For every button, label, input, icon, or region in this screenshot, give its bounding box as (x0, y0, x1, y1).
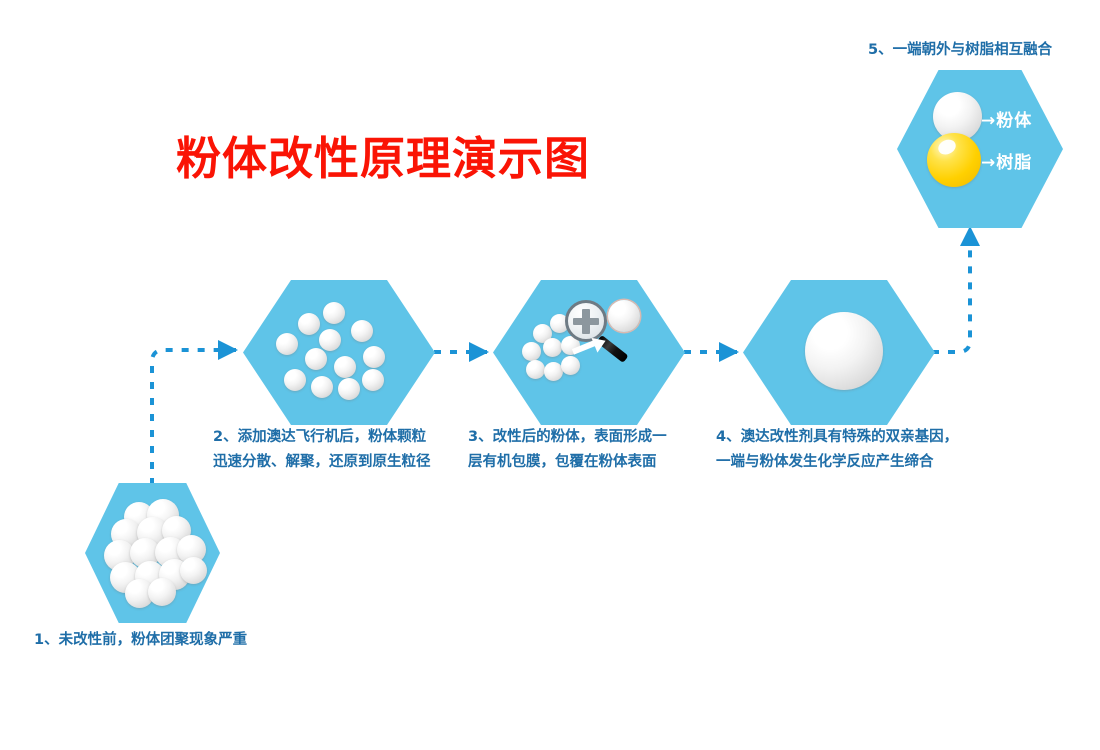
step-3-caption-line-1: 3、改性后的粉体，表面形成一 (468, 425, 718, 450)
step-4-hexagon[interactable] (743, 280, 935, 425)
step-2-caption-line-1: 2、添加澳达飞行机后，粉体颗粒 (213, 425, 463, 450)
step-4-caption-line-1: 4、澳达改性剂具有特殊的双亲基因， (716, 425, 986, 450)
diagram-canvas: 粉体改性原理演示图 1、未改性前，粉体团聚现象严重 (0, 0, 1100, 750)
step-4-caption-line-2: 一端与粉体发生化学反应产生缔合 (716, 450, 986, 475)
modifier-molecule (836, 294, 851, 338)
step-2-caption: 2、添加澳达飞行机后，粉体颗粒 迅速分散、解聚，还原到原生粒径 (213, 425, 463, 475)
page-title: 粉体改性原理演示图 (176, 135, 590, 182)
step-1-caption-line-1: 1、未改性前，粉体团聚现象严重 (34, 628, 334, 653)
modifier-molecule (948, 118, 959, 154)
powder-label: →粉体 (981, 106, 1032, 131)
step-1-hexagon[interactable] (85, 483, 220, 623)
step-3-caption-line-2: 层有机包膜，包覆在粉体表面 (468, 450, 718, 475)
step-5-caption: 5、一端朝外与树脂相互融合 (868, 38, 1100, 63)
step-4-caption: 4、澳达改性剂具有特殊的双亲基因， 一端与粉体发生化学反应产生缔合 (716, 425, 986, 475)
step-2-hexagon[interactable] (243, 280, 435, 425)
modified-particle-scene (743, 280, 935, 425)
magnifier-scene (493, 280, 685, 425)
connector-4-to-5 (932, 228, 970, 352)
resin-label: →树脂 (981, 148, 1032, 173)
step-5-caption-line-1: 5、一端朝外与树脂相互融合 (868, 38, 1100, 63)
step-2-caption-line-2: 迅速分散、解聚，还原到原生粒径 (213, 450, 463, 475)
magnified-particle (608, 300, 640, 332)
step-3-caption: 3、改性后的粉体，表面形成一 层有机包膜，包覆在粉体表面 (468, 425, 718, 475)
step-5-hexagon[interactable]: →粉体 →树脂 (897, 70, 1063, 228)
powder-resin-bond-scene: →粉体 →树脂 (897, 70, 1063, 228)
step-1-caption: 1、未改性前，粉体团聚现象严重 (34, 628, 334, 653)
agglomerate-cluster (85, 483, 220, 623)
dispersed-particles (243, 280, 435, 425)
step-3-hexagon[interactable] (493, 280, 685, 425)
magnifier-plus-icon (582, 309, 590, 334)
modifier-molecule (836, 366, 851, 410)
